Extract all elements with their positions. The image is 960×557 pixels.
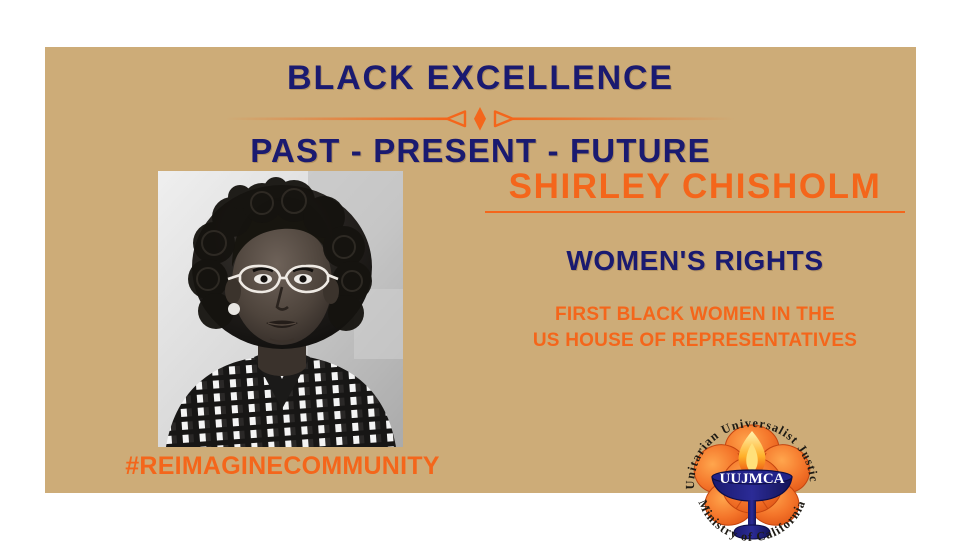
- slide-canvas: BLACK EXCELLENCE: [0, 0, 960, 540]
- diamond-ornament-divider-icon: [225, 107, 735, 131]
- feature-column: SHIRLEY CHISHOLM WOMEN'S RIGHTS FIRST BL…: [485, 167, 905, 354]
- hashtag-text: #REIMAGINECOMMUNITY: [105, 452, 460, 481]
- uujmca-chalice-poppy-logo-icon: UUJMCA Unitarian Universalist Justice Mi…: [672, 407, 832, 557]
- achievement-line-1: FIRST BLACK WOMEN IN THE: [485, 302, 905, 328]
- logo-acronym: UUJMCA: [720, 471, 785, 487]
- portrait-photo: [158, 171, 403, 447]
- page-subtitle: PAST - PRESENT - FUTURE: [45, 132, 916, 170]
- poster-panel: BLACK EXCELLENCE: [45, 47, 916, 493]
- featured-person-name: SHIRLEY CHISHOLM: [485, 167, 905, 213]
- page-title: BLACK EXCELLENCE: [45, 59, 916, 98]
- achievement-line-2: US HOUSE OF REPRESENTATIVES: [485, 328, 905, 354]
- achievement-text: FIRST BLACK WOMEN IN THE US HOUSE OF REP…: [485, 302, 905, 354]
- featured-cause: WOMEN'S RIGHTS: [485, 245, 905, 277]
